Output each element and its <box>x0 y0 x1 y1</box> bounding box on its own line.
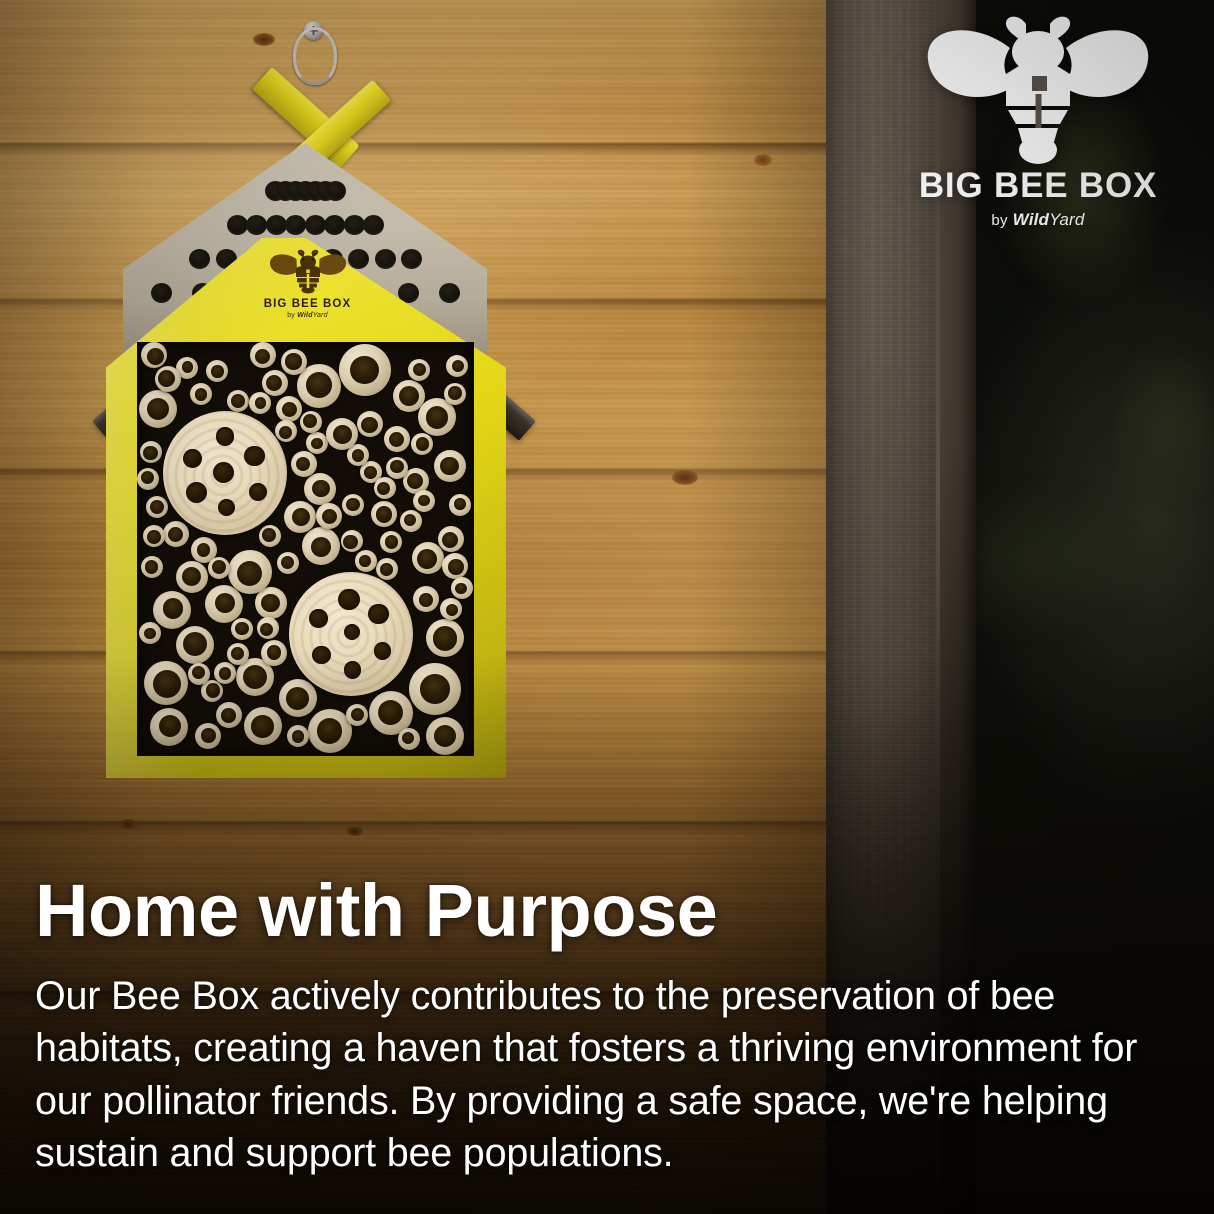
disc-hole <box>183 449 202 468</box>
tube-bore <box>452 360 464 372</box>
disc-hole <box>344 661 361 678</box>
brand-yard-word: Yard <box>1049 210 1084 229</box>
tube-bore <box>231 394 245 408</box>
bamboo-tube <box>140 441 162 463</box>
tube-bore <box>419 593 433 607</box>
headline: Home with Purpose <box>35 874 1185 948</box>
bamboo-tube <box>214 662 236 684</box>
tube-bore <box>147 530 161 544</box>
tube-bore <box>292 508 310 526</box>
tube-bore <box>260 623 273 636</box>
tube-bore <box>243 665 267 689</box>
tube-bore <box>183 632 207 656</box>
tube-bore <box>206 683 220 697</box>
tube-bore <box>311 537 331 557</box>
tube-bore <box>385 535 398 548</box>
bamboo-tube <box>306 432 328 454</box>
bamboo-tube <box>144 661 188 705</box>
brand-subtitle: by WildYard <box>991 210 1084 230</box>
tube-bore <box>267 645 282 660</box>
bamboo-tube <box>249 392 271 414</box>
bamboo-tube <box>195 723 221 749</box>
gable-hole <box>324 215 345 235</box>
bamboo-tube <box>342 494 364 516</box>
bamboo-tube <box>143 525 165 547</box>
wood-knot <box>754 154 772 166</box>
tube-bore <box>417 549 437 569</box>
tube-bore <box>306 372 332 398</box>
bamboo-tube <box>281 349 307 375</box>
wood-knot <box>672 470 698 485</box>
bamboo-tube <box>412 542 444 574</box>
wood-knot <box>119 819 138 830</box>
bamboo-tube <box>176 561 208 593</box>
gable-hole <box>344 215 365 235</box>
disc-hole <box>312 646 331 665</box>
disc-hole <box>374 642 392 660</box>
bamboo-tube <box>413 490 435 512</box>
marketing-image: BIG BEE BOX by WildYard <box>0 0 1214 1214</box>
bamboo-tube <box>384 426 410 452</box>
tube-bore <box>286 687 309 710</box>
bamboo-tube <box>446 355 468 377</box>
bamboo-tube <box>277 552 299 574</box>
tube-bore <box>235 622 249 636</box>
gable-hole <box>325 181 346 201</box>
tube-bore <box>261 594 280 613</box>
product-label-title: BIG BEE BOX <box>264 298 352 310</box>
tube-bore <box>144 628 156 640</box>
bamboo-tube <box>374 477 396 499</box>
bamboo-tube <box>139 622 161 644</box>
tube-bore <box>285 353 301 369</box>
tube-bore <box>351 708 364 721</box>
tube-bore <box>346 498 359 511</box>
bamboo-tube <box>231 618 253 640</box>
bamboo-tube <box>451 577 473 599</box>
disc-hole <box>249 483 267 501</box>
tube-bore <box>312 480 329 497</box>
tube-bore <box>352 449 364 461</box>
tube-bore <box>211 365 223 377</box>
brand-title: BIG BEE BOX <box>919 168 1157 203</box>
wood-knot <box>347 826 363 836</box>
bamboo-tube <box>206 360 228 382</box>
tube-bore <box>159 715 181 737</box>
bamboo-tube <box>409 663 461 715</box>
gable-hole <box>266 215 287 235</box>
bamboo-tube <box>316 503 342 529</box>
bamboo-tube <box>355 550 377 572</box>
label-by-word: by <box>287 312 295 319</box>
tube-bore <box>296 457 310 471</box>
bamboo-tube <box>400 510 422 532</box>
bamboo-tube <box>261 640 287 666</box>
body-paragraph: Our Bee Box actively contributes to the … <box>35 970 1180 1180</box>
tube-bore <box>416 437 430 451</box>
label-wild-word: Wild <box>297 312 313 319</box>
bamboo-tube <box>371 501 397 527</box>
drilled-wood-disc <box>163 411 287 535</box>
bamboo-tube <box>227 643 249 665</box>
gable-hole <box>227 215 248 235</box>
tube-bore <box>215 593 235 613</box>
tube-bore <box>150 500 164 514</box>
disc-hole <box>309 609 328 628</box>
bamboo-tube <box>302 527 340 565</box>
tube-bore <box>255 397 267 409</box>
tube-bore <box>251 715 273 737</box>
bamboo-tube <box>426 717 464 755</box>
product-label: BIG BEE BOX by WildYard <box>245 248 370 340</box>
bamboo-tube <box>176 626 214 664</box>
tube-bore <box>454 498 465 509</box>
gable-hole <box>189 249 210 269</box>
tube-bore <box>237 561 262 586</box>
bee-house-product: BIG BEE BOX by WildYard <box>0 0 620 800</box>
bamboo-tube <box>275 420 297 442</box>
disc-hole <box>338 589 360 611</box>
bamboo-tube <box>408 359 430 381</box>
tube-bore <box>143 446 157 460</box>
bamboo-tube <box>434 450 466 482</box>
tube-bore <box>404 514 416 526</box>
tube-bore <box>153 670 181 698</box>
bamboo-tube <box>287 725 309 747</box>
bamboo-tube <box>146 496 168 518</box>
bamboo-tube <box>386 457 408 479</box>
tube-bore <box>255 349 270 364</box>
bamboo-tube <box>139 390 177 428</box>
tube-bore <box>311 438 323 450</box>
tube-bore <box>440 457 459 476</box>
bamboo-tube <box>228 550 272 594</box>
tube-bore <box>343 535 357 549</box>
tube-bore <box>364 466 377 479</box>
bamboo-tube <box>346 704 368 726</box>
bamboo-tube <box>376 558 398 580</box>
bamboo-tube <box>380 531 402 553</box>
tube-bore <box>231 647 244 660</box>
tube-bore <box>279 426 292 439</box>
tube-bore <box>182 567 201 586</box>
bamboo-tube <box>208 557 230 579</box>
hanging-ring <box>293 27 337 85</box>
tube-bore <box>448 559 464 575</box>
tube-bore <box>219 667 231 679</box>
brand-by-word: by <box>991 212 1007 229</box>
bamboo-tube <box>413 586 439 612</box>
bamboo-tube <box>411 433 433 455</box>
bamboo-tube <box>163 521 189 547</box>
disc-hole <box>186 482 207 503</box>
bamboo-tube <box>442 553 468 579</box>
tube-bore <box>359 555 370 566</box>
bamboo-tube <box>150 708 188 746</box>
bamboo-tube <box>438 526 464 552</box>
disc-hole <box>244 446 265 467</box>
drilled-wood-disc <box>289 572 413 696</box>
bamboo-tube <box>137 468 159 490</box>
bamboo-tube <box>284 501 316 533</box>
tube-bore <box>448 386 462 400</box>
gable-hole <box>305 215 326 235</box>
bamboo-tube <box>262 370 288 396</box>
bamboo-tube <box>398 728 420 750</box>
bamboo-tube <box>276 396 302 422</box>
tube-bore <box>145 560 159 574</box>
tube-bore <box>201 728 216 743</box>
bamboo-tube <box>153 591 191 629</box>
bamboo-tube <box>216 702 242 728</box>
gable-hole <box>401 249 422 269</box>
brand-logo: BIG BEE BOX by WildYard <box>888 14 1188 249</box>
tube-bore <box>212 560 226 574</box>
gable-hole <box>439 283 460 303</box>
bamboo-tube <box>244 707 282 745</box>
disc-hole <box>218 499 235 516</box>
disc-hole <box>216 427 235 446</box>
bee-with-house-icon <box>267 248 349 294</box>
gable-hole <box>285 215 306 235</box>
gable-hole <box>246 215 267 235</box>
bamboo-tube <box>155 366 181 392</box>
bee-with-house-icon <box>922 14 1154 166</box>
tube-bore <box>426 406 448 428</box>
tube-bore <box>197 543 211 557</box>
tube-bore <box>262 528 276 542</box>
bamboo-tube <box>227 390 249 412</box>
bamboo-tube <box>250 342 276 368</box>
label-yard-word: Yard <box>313 312 328 319</box>
bamboo-tube <box>259 525 281 547</box>
bamboo-tube <box>339 344 391 396</box>
product-label-subtitle: by WildYard <box>287 312 328 319</box>
bamboo-tube <box>449 494 471 516</box>
copy-block: Home with Purpose Our Bee Box actively c… <box>35 874 1185 1180</box>
bamboo-tube <box>279 679 317 717</box>
bamboo-tube <box>308 709 352 753</box>
bamboo-tube <box>440 598 462 620</box>
bamboo-tube <box>304 473 336 505</box>
tube-bore <box>147 348 164 365</box>
bamboo-tube <box>141 342 167 368</box>
tube-bore <box>182 361 194 373</box>
tube-bore <box>380 563 392 575</box>
gable-hole <box>363 215 384 235</box>
disc-hole <box>368 604 388 624</box>
gable-hole <box>151 283 172 303</box>
tube-bore <box>446 604 458 616</box>
gable-hole <box>375 249 396 269</box>
bamboo-tube <box>257 617 279 639</box>
bamboo-tube <box>357 411 383 437</box>
bamboo-tube <box>300 411 322 433</box>
tube-bore <box>333 425 351 443</box>
tube-bore <box>221 708 236 723</box>
bamboo-tube-cavity <box>137 342 474 756</box>
bamboo-tube <box>141 556 163 578</box>
bamboo-tube <box>444 383 466 405</box>
bamboo-tube <box>341 530 363 552</box>
tube-bore <box>361 417 378 434</box>
disc-hole <box>213 462 234 483</box>
tube-bore <box>420 674 450 704</box>
tube-bore <box>433 626 457 650</box>
tube-bore <box>317 718 342 743</box>
bamboo-tube <box>426 619 464 657</box>
bamboo-tube <box>188 663 210 685</box>
tube-bore <box>376 506 393 523</box>
bamboo-tube <box>190 383 212 405</box>
tube-bore <box>303 414 317 428</box>
brand-wild-word: Wild <box>1013 210 1050 229</box>
disc-hole <box>344 624 360 640</box>
